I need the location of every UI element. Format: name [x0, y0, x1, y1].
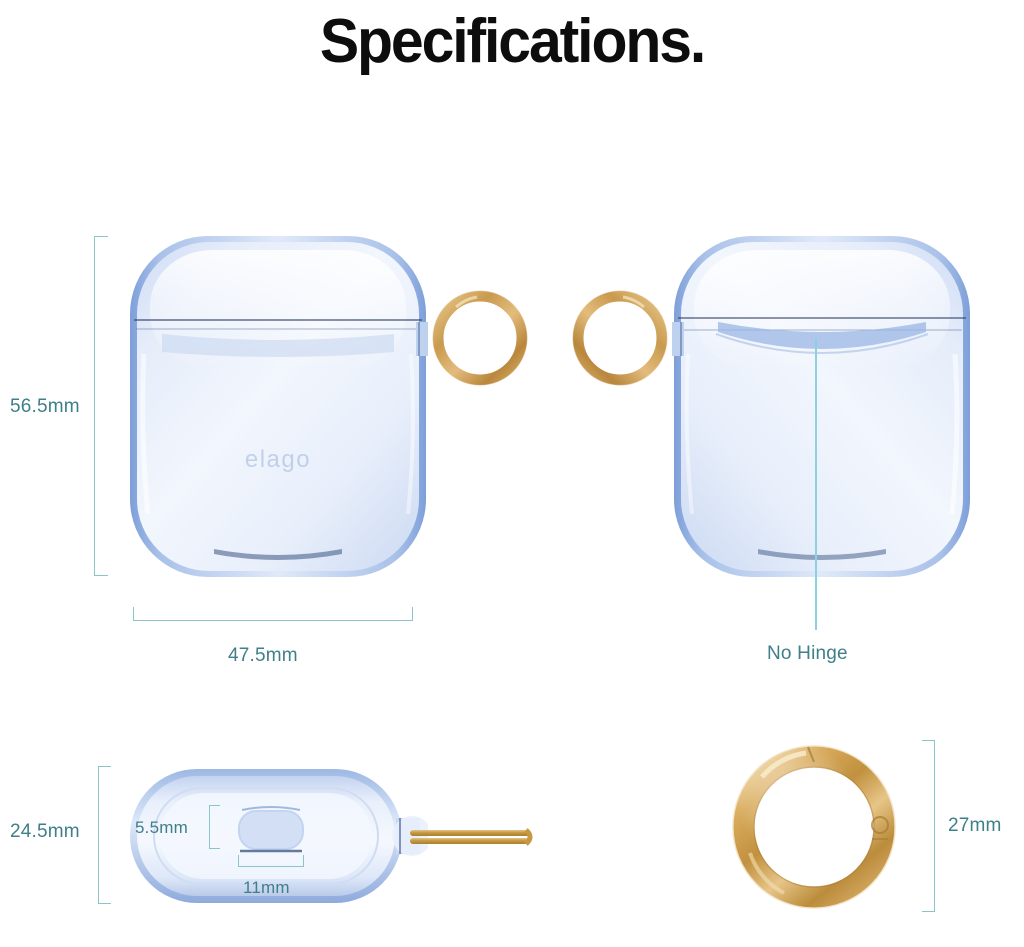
height-dimension-label: 56.5mm — [10, 396, 80, 418]
back-view-carabiner-ring — [565, 283, 675, 393]
ring-diameter-dimension-bracket — [922, 740, 935, 912]
no-hinge-leader-line — [815, 338, 817, 630]
ring-diameter-dimension-label: 27mm — [948, 815, 1002, 837]
carabiner-ring-detail — [722, 735, 907, 920]
port-height-dimension-label: 5.5mm — [135, 818, 188, 838]
case-front-view: elago — [128, 234, 428, 579]
port-width-dimension-bracket — [238, 855, 304, 867]
svg-text:elago: elago — [245, 446, 311, 473]
case-back-view: elago — [672, 234, 972, 579]
port-height-dimension-bracket — [209, 805, 220, 849]
no-hinge-label: No Hinge — [767, 643, 848, 665]
port-width-dimension-label: 11mm — [243, 878, 290, 898]
depth-dimension-bracket — [98, 766, 111, 904]
height-dimension-bracket — [94, 236, 108, 576]
front-view-carabiner-ring — [425, 283, 535, 393]
width-dimension-label: 47.5mm — [228, 645, 298, 667]
bottom-view-ring-profile — [408, 818, 534, 858]
depth-dimension-label: 24.5mm — [10, 821, 80, 843]
width-dimension-bracket — [133, 607, 413, 621]
specification-sheet: Specifications. 56.5mm 47.5mm — [0, 0, 1024, 947]
page-title: Specifications. — [26, 8, 999, 76]
